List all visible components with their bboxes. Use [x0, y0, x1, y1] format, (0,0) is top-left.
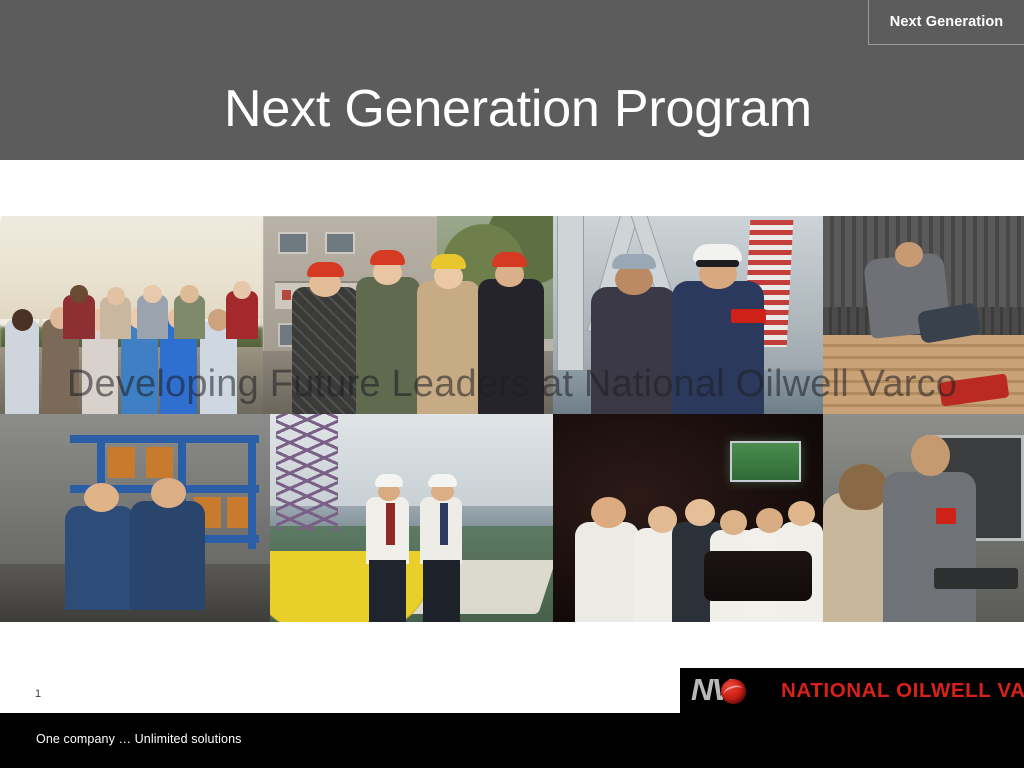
photo-warehouse-pair-scene	[0, 414, 270, 622]
nov-logo-wordmark: NATIONAL OILWELL VARCO	[781, 679, 1024, 703]
footer-tagline: One company … Unlimited solutions	[36, 732, 241, 746]
nov-logo-ball-icon	[721, 679, 746, 704]
photo-offshore-pair-scene	[553, 216, 823, 414]
photo-helideck-pair	[270, 414, 553, 622]
photo-tent-group	[0, 216, 263, 414]
photo-offshore-pair	[553, 216, 823, 414]
photo-workshop-training	[823, 414, 1024, 622]
photo-bar-group	[553, 414, 823, 622]
photo-workshop-training-scene	[823, 414, 1024, 622]
section-tab[interactable]: Next Generation	[868, 0, 1024, 45]
slide-title: Next Generation Program	[224, 74, 924, 144]
photo-china-hardhats	[263, 216, 553, 414]
photo-tent-group-scene	[0, 216, 263, 414]
nov-logo-mark-icon: NV	[691, 676, 777, 706]
photo-collage	[0, 216, 1024, 622]
photo-timber-workshop	[823, 216, 1024, 414]
photo-timber-workshop-scene	[823, 216, 1024, 414]
section-tab-label: Next Generation	[890, 14, 1004, 30]
nov-logo: NV NATIONAL OILWELL VARCO	[680, 668, 1024, 714]
photo-warehouse-pair	[0, 414, 270, 622]
page-number: 1	[35, 688, 41, 700]
slide-header-band: Next Generation Next Generation Program	[0, 0, 1024, 160]
photo-bar-group-scene	[553, 414, 823, 622]
photo-helideck-pair-scene	[270, 414, 553, 622]
photo-china-hardhats-scene	[263, 216, 553, 414]
